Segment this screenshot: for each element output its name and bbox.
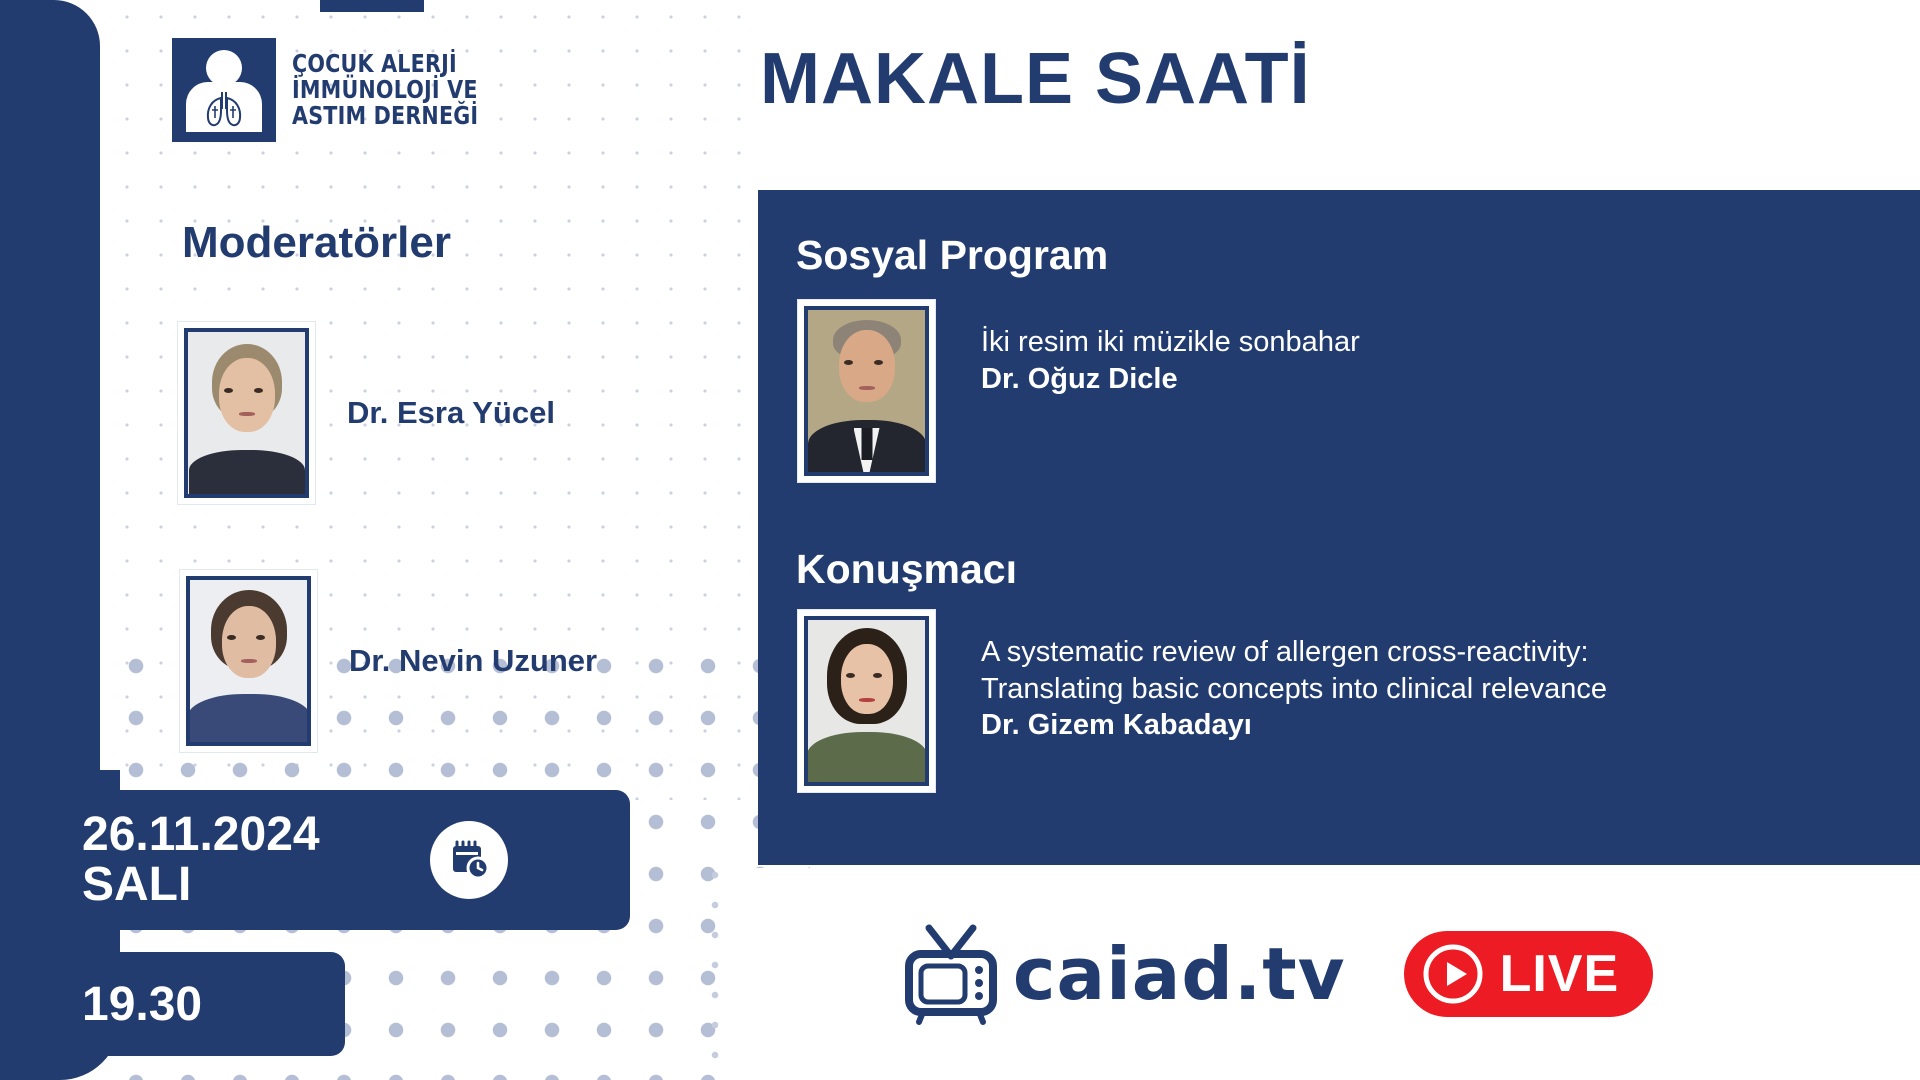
moderator-item: Dr. Esra Yücel [178,322,555,504]
live-label: LIVE [1500,944,1620,1004]
program-card: Sosyal Program İki resim iki müzikle son… [758,190,1920,865]
page-title: MAKALE SAATİ [760,38,1311,120]
caiad-tv-logo[interactable]: caiad.tv [899,922,1346,1026]
event-day: SALI [82,860,320,910]
event-date: 26.11.2024 [82,810,320,860]
time-badge: 19.30 [0,952,345,1056]
logo-line-1: ÇOCUK ALERJİ [292,51,478,77]
speaker-photo-frame [798,610,935,792]
event-time: 19.30 [82,977,202,1032]
portrait-oguz-dicle [808,310,925,472]
play-icon [1422,943,1484,1005]
logo-line-2: İMMÜNOLOJİ VE [292,77,478,103]
calendar-clock-icon [430,821,508,899]
lungs-glyph [202,90,246,130]
talk-title: İki resim iki müzikle sonbahar [981,324,1360,361]
association-logo: ÇOCUK ALERJİ İMMÜNOLOJİ VE ASTIM DERNEĞİ [172,38,495,142]
portrait-nevin-uzuner [190,580,307,742]
lungs-person-icon [172,38,276,142]
portrait-gizem-kabadayi [808,620,925,782]
moderator-item: Dr. Nevin Uzuner [180,570,597,752]
talk-title-line-1: A systematic review of allergen cross-re… [981,634,1607,671]
section-heading-konusmaci: Konuşmacı [796,546,1017,593]
section-heading-sosyal-program: Sosyal Program [796,232,1108,279]
live-badge[interactable]: LIVE [1404,931,1654,1017]
moderators-heading: Moderatörler [182,218,451,268]
program-entry: A systematic review of allergen cross-re… [798,610,1607,792]
association-name: ÇOCUK ALERJİ İMMÜNOLOJİ VE ASTIM DERNEĞİ [292,51,478,129]
portrait-esra-yucel [188,332,305,494]
footer-bar: caiad.tv LIVE [740,868,1812,1080]
moderator-photo-frame [180,570,317,752]
moderator-name: Dr. Nevin Uzuner [349,643,597,679]
logo-line-3: ASTIM DERNEĞİ [292,103,478,129]
speaker-name: Dr. Gizem Kabadayı [981,709,1607,742]
speaker-name: Dr. Oğuz Dicle [981,363,1360,396]
talk-title-line-2: Translating basic concepts into clinical… [981,671,1607,708]
site-name: caiad.tv [1013,932,1346,1016]
program-entry: İki resim iki müzikle sonbahar Dr. Oğuz … [798,300,1360,482]
moderator-name: Dr. Esra Yücel [347,395,555,431]
retro-tv-icon [899,922,1003,1026]
top-accent-tab [320,0,424,12]
moderator-photo-frame [178,322,315,504]
speaker-photo-frame [798,300,935,482]
date-badge: 26.11.2024 SALI [0,790,630,930]
